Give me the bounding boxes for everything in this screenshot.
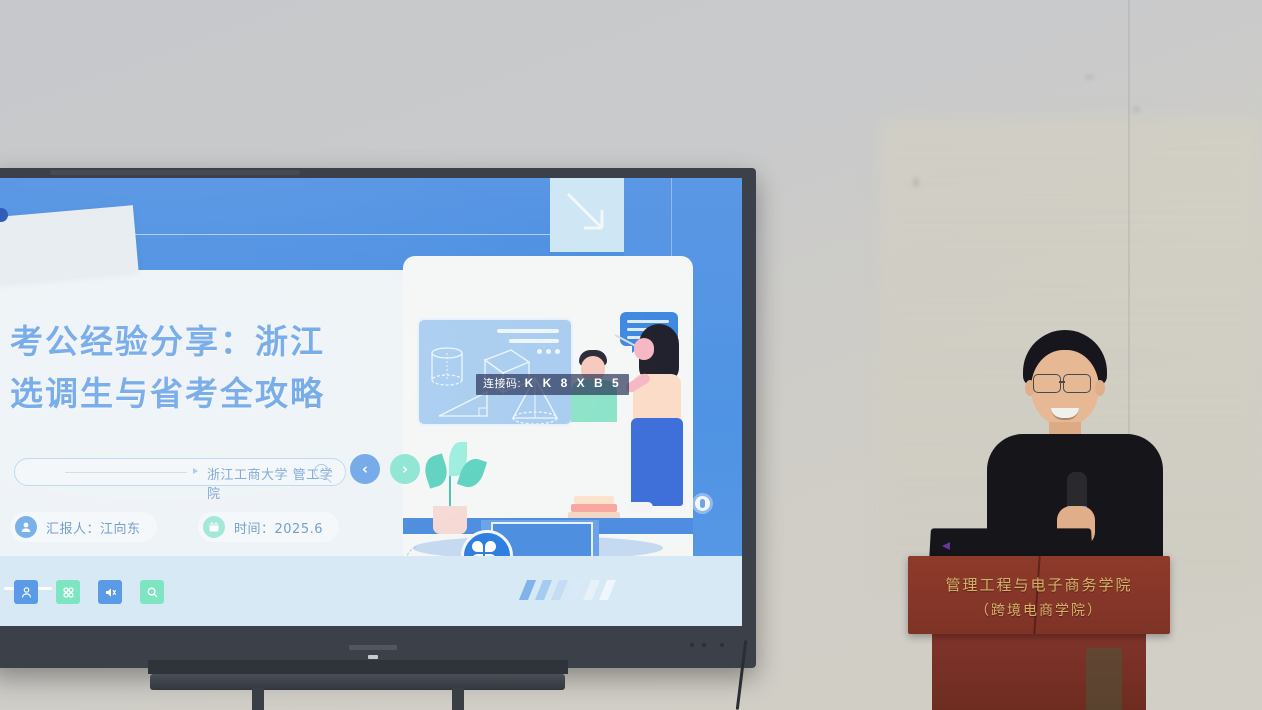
pill-rule <box>65 472 187 473</box>
display-screen[interactable]: 考公经验分享：浙江 选调生与省考全攻略 浙江工商大学 管工学院 ‹ › <box>0 178 742 626</box>
connection-code-label: 连接码: <box>483 378 521 390</box>
wall-mark <box>1085 75 1094 79</box>
glasses-icon <box>1063 374 1091 393</box>
arrow-down-right-icon <box>550 178 624 252</box>
lectern-front-panel: 管理工程与电子商务学院 （跨境电商学院） <box>908 556 1170 634</box>
slide-title-line1: 考公经验分享：浙江 <box>10 316 410 368</box>
next-slide-button[interactable]: › <box>390 454 420 484</box>
glasses-icon <box>1033 374 1061 393</box>
toolbar-search-icon[interactable] <box>140 580 164 604</box>
lectern-shadow <box>1086 648 1122 710</box>
lectern-seam <box>1033 556 1040 634</box>
display-ir-sensor <box>368 655 378 659</box>
calendar-icon <box>203 516 225 538</box>
chevron-right-icon: › <box>402 460 408 478</box>
classroom-photo-scene: 考公经验分享：浙江 选调生与省考全攻略 浙江工商大学 管工学院 ‹ › <box>0 0 1262 710</box>
date-label: 时间：2025.6 <box>234 518 323 537</box>
slide-stripe-decor <box>523 580 612 600</box>
presentation-slide[interactable]: 考公经验分享：浙江 选调生与省考全攻略 浙江工商大学 管工学院 ‹ › <box>0 178 742 626</box>
display-stand-top <box>148 660 568 674</box>
display-stand-leg <box>452 688 464 710</box>
laptop-logo-icon <box>942 542 950 550</box>
lectern: 管理工程与电子商务学院 （跨境电商学院） <box>908 556 1170 710</box>
slide-toolbar[interactable] <box>14 580 164 604</box>
search-icon <box>314 464 329 479</box>
interactive-display[interactable]: 考公经验分享：浙江 选调生与省考全攻略 浙江工商大学 管工学院 ‹ › <box>0 168 756 668</box>
prev-slide-button[interactable]: ‹ <box>350 454 380 484</box>
connection-code-banner: 连接码: K K 8 X B 5 <box>476 374 629 395</box>
slide-side-indicator <box>695 496 710 511</box>
connection-code-value: K K 8 X B 5 <box>525 376 622 390</box>
slide-title-block: 考公经验分享：浙江 选调生与省考全攻略 <box>10 316 410 420</box>
illustration-whiteboard <box>417 318 573 426</box>
display-top-vent <box>50 170 300 175</box>
lectern-title-line1: 管理工程与电子商务学院 <box>908 574 1170 595</box>
display-stand-bar <box>150 674 565 690</box>
display-indicator-dot <box>720 643 724 647</box>
toolbar-user-icon[interactable] <box>14 580 38 604</box>
display-stand-leg <box>252 688 264 710</box>
display-indicator-dot <box>690 643 694 647</box>
toolbar-grid-icon[interactable] <box>56 580 80 604</box>
chevron-left-icon: ‹ <box>362 460 368 478</box>
play-triangle-icon <box>193 468 198 474</box>
presenter-ear <box>1095 380 1105 396</box>
teacher-face <box>634 338 654 360</box>
teacher-shoe <box>627 502 653 512</box>
plant-pot <box>433 506 467 534</box>
glasses-bridge <box>1059 381 1065 383</box>
slide-angled-card <box>0 205 139 285</box>
display-indicator-dot <box>702 643 706 647</box>
slide-title-line2: 选调生与省考全攻略 <box>10 368 410 420</box>
date-chip: 时间：2025.6 <box>198 512 339 542</box>
toolbar-mute-speaker-icon[interactable] <box>98 580 122 604</box>
reporter-chip: 汇报人：江向东 <box>10 512 157 542</box>
teacher-trousers <box>631 418 683 506</box>
reporter-label: 汇报人：江向东 <box>46 518 141 537</box>
wall-mark <box>913 178 919 187</box>
wall-mark <box>1133 107 1140 112</box>
user-icon <box>15 516 37 538</box>
lectern-title-line2: （跨境电商学院） <box>908 600 1170 620</box>
organization-pill[interactable]: 浙江工商大学 管工学院 <box>14 458 346 486</box>
slide-illustration <box>403 256 693 586</box>
display-brand-label <box>349 645 397 650</box>
